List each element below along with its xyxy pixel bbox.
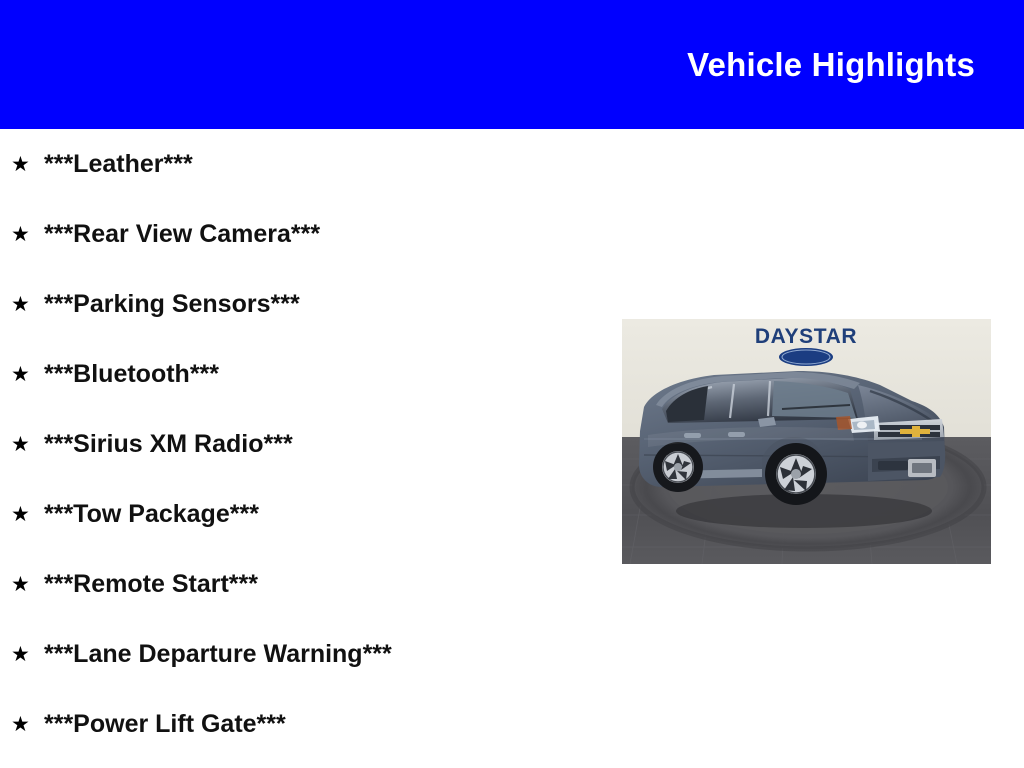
list-item: ★ ***Tow Package***	[0, 479, 610, 549]
list-item: ★ ***Sirius XM Radio***	[0, 409, 610, 479]
list-item-label: ***Parking Sensors***	[44, 292, 300, 317]
list-item: ★ ***Parking Sensors***	[0, 269, 610, 339]
vehicle-photo: DAYSTAR	[622, 319, 991, 564]
star-icon: ★	[11, 574, 44, 595]
list-item-label: ***Power Lift Gate***	[44, 712, 286, 737]
vehicle-highlights-list: ★ ***Leather*** ★ ***Rear View Camera***…	[0, 129, 610, 759]
star-icon: ★	[11, 294, 44, 315]
star-icon: ★	[11, 224, 44, 245]
list-item: ★ ***Remote Start***	[0, 549, 610, 619]
header-banner: Vehicle Highlights	[0, 0, 1024, 129]
star-icon: ★	[11, 364, 44, 385]
list-item-label: ***Rear View Camera***	[44, 222, 320, 247]
list-item-label: ***Remote Start***	[44, 572, 258, 597]
list-item: ★ ***Power Lift Gate***	[0, 689, 610, 759]
list-item-label: ***Bluetooth***	[44, 362, 219, 387]
svg-text:DAYSTAR: DAYSTAR	[755, 325, 857, 348]
list-item: ★ ***Bluetooth***	[0, 339, 610, 409]
star-icon: ★	[11, 434, 44, 455]
list-item: ★ ***Leather***	[0, 129, 610, 199]
star-icon: ★	[11, 504, 44, 525]
list-item-label: ***Leather***	[44, 152, 193, 177]
list-item-label: ***Sirius XM Radio***	[44, 432, 293, 457]
star-icon: ★	[11, 714, 44, 735]
vehicle-highlights-page: Vehicle Highlights ★ ***Leather*** ★ ***…	[0, 0, 1024, 768]
list-item-label: ***Lane Departure Warning***	[44, 642, 392, 667]
list-item: ★ ***Rear View Camera***	[0, 199, 610, 269]
star-icon: ★	[11, 644, 44, 665]
list-item-label: ***Tow Package***	[44, 502, 259, 527]
list-item: ★ ***Lane Departure Warning***	[0, 619, 610, 689]
star-icon: ★	[11, 154, 44, 175]
page-title: Vehicle Highlights	[687, 48, 1024, 81]
